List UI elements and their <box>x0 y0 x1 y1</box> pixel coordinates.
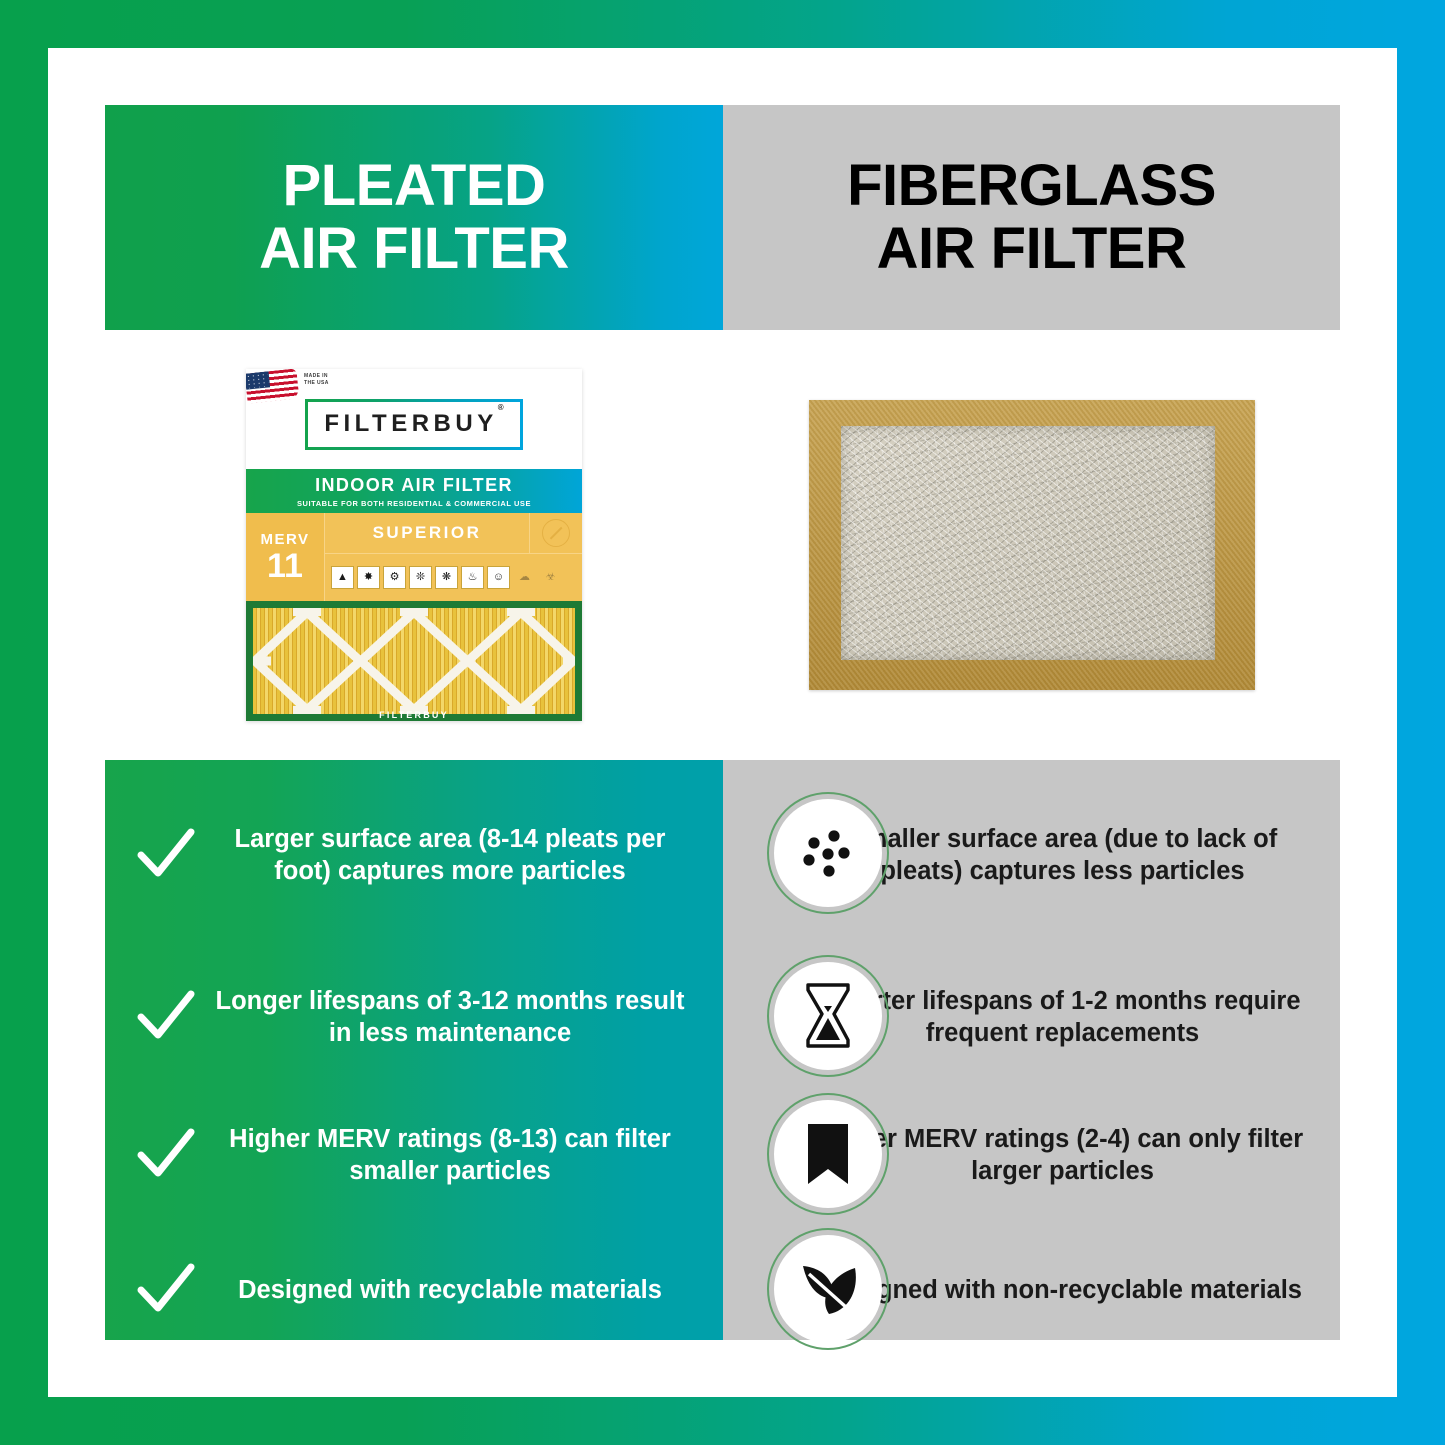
inner-white-card: PLEATED AIR FILTER FIBERGLASS AIR FILTER… <box>48 48 1397 1397</box>
eco-leaf-icon <box>767 1228 889 1350</box>
check-icon-1 <box>127 828 205 882</box>
header-fiberglass-title: FIBERGLASS AIR FILTER <box>847 155 1216 279</box>
odor-icon: ☁ <box>513 566 536 589</box>
dust-icon: ▲ <box>331 566 354 589</box>
merv-label: MERV <box>260 531 309 548</box>
filterbuy-logo-text: FILTERBUY® <box>324 410 503 438</box>
brand-text: FILTERBUY <box>324 410 497 437</box>
check-icon-2 <box>127 990 205 1044</box>
product-image-band: MADE IN THE USA FILTERBUY® INDOOR AIR FI… <box>105 330 1340 760</box>
infographic-root: PLEATED AIR FILTER FIBERGLASS AIR FILTER… <box>0 0 1445 1445</box>
ul-seal-icon <box>529 513 582 553</box>
pleated-air-filter-box: MADE IN THE USA FILTERBUY® INDOOR AIR FI… <box>246 369 582 721</box>
row-4-left-text: Designed with recyclable materials <box>205 1274 695 1306</box>
row-2-left-cell: Longer lifespans of 3-12 months result i… <box>105 985 723 1049</box>
mold-icon: ❋ <box>435 566 458 589</box>
bottom-brand-label: FILTERBUY <box>246 710 582 720</box>
comparison-rows: Larger surface area (8-14 pleats per foo… <box>105 760 1340 1340</box>
box-top-section: MADE IN THE USA FILTERBUY® <box>246 369 582 469</box>
pleated-product-cell: MADE IN THE USA FILTERBUY® INDOOR AIR FI… <box>105 330 723 760</box>
bacteria-icon: ⚙ <box>383 566 406 589</box>
box-middle-right: SUPERIOR ▲ ✸ ⚙ ❊ ❋ ♨ ☺ ☁ <box>325 513 582 601</box>
support-grid-icon <box>253 608 575 714</box>
virus-icon: ☣ <box>539 566 562 589</box>
pollen-icon: ❊ <box>409 566 432 589</box>
band-title: INDOOR AIR FILTER <box>315 475 513 496</box>
particles-icon <box>767 792 889 914</box>
band-subtitle: SUITABLE FOR BOTH RESIDENTIAL & COMMERCI… <box>297 499 531 508</box>
header-row: PLEATED AIR FILTER FIBERGLASS AIR FILTER <box>105 105 1340 330</box>
pet-dander-icon: ♨ <box>461 566 484 589</box>
hourglass-icon <box>767 955 889 1077</box>
smoke-icon: ☺ <box>487 566 510 589</box>
feature-icon-strip: ▲ ✸ ⚙ ❊ ❋ ♨ ☺ ☁ ☣ <box>325 554 582 601</box>
made-in-usa-label: MADE IN THE USA <box>304 373 329 387</box>
box-middle-section: MERV 11 SUPERIOR ▲ ✸ ⚙ <box>246 513 582 601</box>
fiberglass-mesh <box>841 426 1215 660</box>
check-icon-3 <box>127 1128 205 1182</box>
header-fiberglass: FIBERGLASS AIR FILTER <box>723 105 1340 330</box>
row-4-left-cell: Designed with recyclable materials <box>105 1263 723 1317</box>
tier-label: SUPERIOR <box>325 523 529 543</box>
merv-badge: MERV 11 <box>246 513 325 601</box>
usa-flag-icon <box>246 369 299 404</box>
row-3-left-cell: Higher MERV ratings (8-13) can filter sm… <box>105 1123 723 1187</box>
row-1-left-cell: Larger surface area (8-14 pleats per foo… <box>105 823 723 887</box>
yellow-pleats <box>253 608 575 714</box>
comparison-row-4: Designed with recyclable materials Desig… <box>105 1235 1340 1345</box>
bookmark-icon <box>767 1093 889 1215</box>
comparison-row-2: Longer lifespans of 3-12 months result i… <box>105 962 1340 1072</box>
check-icon-4 <box>127 1263 205 1317</box>
row-2-left-text: Longer lifespans of 3-12 months result i… <box>205 985 695 1049</box>
registered-mark: ® <box>498 403 504 412</box>
pleated-media-window: FILTERBUY <box>246 601 582 721</box>
merv-value: 11 <box>267 550 303 582</box>
header-pleated: PLEATED AIR FILTER <box>105 105 723 330</box>
comparison-row-3: Higher MERV ratings (8-13) can filter sm… <box>105 1100 1340 1210</box>
tier-row: SUPERIOR <box>325 513 582 554</box>
row-1-left-text: Larger surface area (8-14 pleats per foo… <box>205 823 695 887</box>
indoor-air-filter-band: INDOOR AIR FILTER SUITABLE FOR BOTH RESI… <box>246 469 582 513</box>
fiberglass-product-cell <box>723 330 1340 760</box>
fiberglass-air-filter-image <box>809 400 1255 690</box>
insect-icon: ✸ <box>357 566 380 589</box>
filterbuy-logo-box: FILTERBUY® <box>305 399 522 450</box>
row-3-left-text: Higher MERV ratings (8-13) can filter sm… <box>205 1123 695 1187</box>
comparison-row-1: Larger surface area (8-14 pleats per foo… <box>105 788 1340 922</box>
header-pleated-title: PLEATED AIR FILTER <box>259 155 569 279</box>
